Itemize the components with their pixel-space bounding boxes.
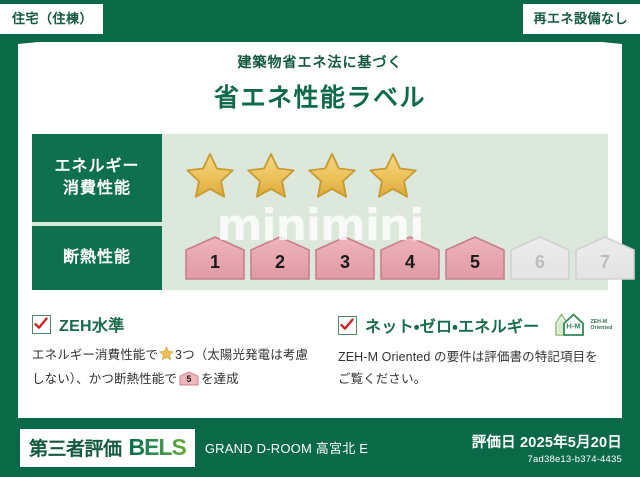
bels-jp-text: 第三者評価: [29, 434, 122, 461]
grade-badge: 6: [509, 235, 571, 281]
insulation-label-line1: 断熱性能: [63, 247, 131, 269]
building-type-tag: 住宅（住棟）: [0, 4, 103, 34]
bels-logo: 第三者評価 BELS: [20, 429, 195, 467]
svg-text:H-M: H-M: [567, 322, 581, 331]
zeh-m-caption-line2: Oriented: [590, 325, 612, 331]
zeh-m-caption-line1: ZEH-M: [590, 319, 607, 325]
evaluation-info: 評価日 2025年5月20日 7ad38e13-b374-4435: [472, 431, 622, 465]
building-name: GRAND D-ROOM 高宮北 E: [205, 438, 368, 457]
grade-badge: 4: [379, 235, 441, 281]
energy-performance-label: エネルギー 消費性能: [32, 134, 162, 222]
energy-star-rating: [162, 134, 608, 222]
grade-number: 2: [249, 253, 311, 271]
zeh-m-logo: H-M ZEH-M Oriented: [553, 312, 612, 338]
footer-bar: 第三者評価 BELS GRAND D-ROOM 高宮北 E 評価日 2025年5…: [0, 418, 640, 477]
net-zero-energy-note: ネット・ゼロ・エネルギー H-M ZEH-M Oriented ZEH-M Or…: [320, 312, 608, 408]
grade-number: 1: [184, 253, 246, 271]
zeh-m-logo-caption: ZEH-M Oriented: [590, 319, 612, 332]
star-icon: [245, 151, 297, 206]
energy-label-line1: エネルギー: [54, 156, 139, 178]
grade-number: 4: [379, 253, 441, 271]
zeh-body-part3: を達成: [201, 372, 239, 386]
insulation-performance-row: 断熱性能 1234567: [32, 226, 608, 290]
header-band: 住宅（住棟） 再エネ設備なし: [0, 0, 640, 42]
grade-number: 3: [314, 253, 376, 271]
energy-performance-row: エネルギー 消費性能: [32, 134, 608, 222]
check-icon: [338, 316, 357, 335]
title-subtitle: 建築物省エネ法に基づく: [0, 52, 640, 72]
zeh-standard-heading: ZEH水準: [32, 312, 320, 336]
evaluation-id: 7ad38e13-b374-4435: [472, 454, 622, 465]
star-icon: [367, 151, 419, 206]
star-icon: [306, 151, 358, 206]
grade-badge: 2: [249, 235, 311, 281]
notes-section: ZEH水準 エネルギー消費性能で3つ（太陽光発電は考慮しない）、かつ断熱性能で5…: [32, 312, 608, 408]
grade-number: 7: [574, 253, 636, 271]
net-zero-heading: ネット・ゼロ・エネルギー H-M ZEH-M Oriented: [338, 312, 608, 338]
zeh-standard-body: エネルギー消費性能で3つ（太陽光発電は考慮しない）、かつ断熱性能で5を達成: [32, 345, 320, 390]
energy-label-root: 住宅（住棟） 再エネ設備なし 建築物省エネ法に基づく 省エネ性能ラベル エネルギ…: [0, 0, 640, 477]
grade-badge: 5: [444, 235, 506, 281]
renewable-energy-tag: 再エネ設備なし: [523, 4, 640, 34]
bels-en-text: BELS: [129, 434, 186, 461]
grade-badge-list: 1234567: [184, 235, 636, 281]
grade-badge: 1: [184, 235, 246, 281]
evaluation-date: 評価日 2025年5月20日: [472, 431, 622, 452]
insulation-grade-scale: 1234567: [162, 226, 636, 290]
energy-label-line2: 消費性能: [63, 178, 131, 200]
inline-star-icon: [159, 350, 174, 364]
inline-grade-number: 5: [179, 375, 199, 384]
page-title: 省エネ性能ラベル: [0, 78, 640, 114]
grade-number: 5: [444, 253, 506, 271]
title-block: 建築物省エネ法に基づく 省エネ性能ラベル: [0, 52, 640, 114]
inline-grade-badge: 5: [179, 371, 199, 386]
zeh-body-part1: エネルギー消費性能で: [32, 348, 158, 362]
star-list: [184, 151, 419, 206]
zeh-standard-note: ZEH水準 エネルギー消費性能で3つ（太陽光発電は考慮しない）、かつ断熱性能で5…: [32, 312, 320, 408]
insulation-performance-label: 断熱性能: [32, 226, 162, 290]
net-zero-title: ネット・ゼロ・エネルギー: [365, 313, 539, 337]
performance-panel: エネルギー 消費性能 断熱性能 1234567: [32, 134, 608, 290]
grade-badge: 7: [574, 235, 636, 281]
star-icon: [184, 151, 236, 206]
grade-number: 6: [509, 253, 571, 271]
check-icon: [32, 315, 51, 334]
zeh-standard-title: ZEH水準: [59, 312, 125, 336]
grade-badge: 3: [314, 235, 376, 281]
net-zero-body: ZEH-M Oriented の要件は評価書の特記項目をご覧ください。: [338, 347, 608, 390]
